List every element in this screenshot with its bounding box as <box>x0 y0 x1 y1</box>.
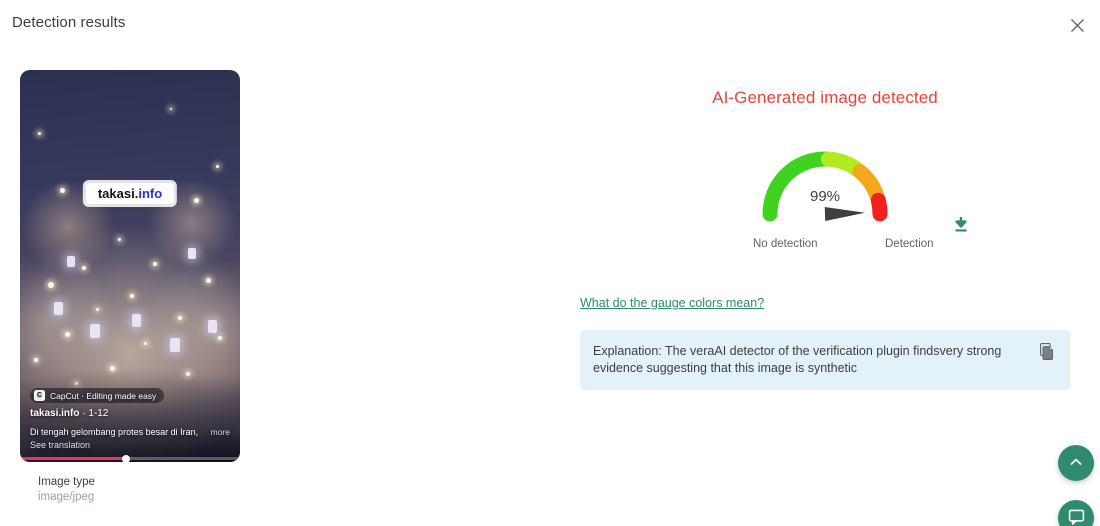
gauge-svg <box>750 126 900 236</box>
gauge-segment-orange <box>860 172 877 197</box>
image-type-value: image/jpeg <box>38 490 240 505</box>
gauge-segment-red <box>878 200 880 214</box>
caption-more-link[interactable]: more <box>211 427 230 437</box>
detection-gauge: 99% No detection Detection <box>580 126 1070 246</box>
gauge-segment-yellowgreen <box>828 159 857 169</box>
video-progress-fill <box>20 457 126 460</box>
gauge-segment-green <box>770 159 825 214</box>
gauge-value: 99% <box>810 188 840 205</box>
gauge-needle <box>825 207 865 221</box>
image-metadata: Image type image/jpeg <box>20 475 240 505</box>
gauge-max-label: Detection <box>885 238 934 250</box>
image-type-label: Image type <box>38 475 240 490</box>
close-icon <box>1070 18 1085 33</box>
post-username: takasi.info · 1-12 <box>30 408 108 419</box>
see-translation-link[interactable]: See translation <box>30 440 90 450</box>
capcut-badge-pill: C CapCut · Editing made easy <box>30 388 164 403</box>
post-caption: Di tengah gelombang protes besar di Iran… <box>30 427 200 437</box>
chevron-up-icon <box>1068 454 1084 473</box>
post-date: · 1-12 <box>79 408 108 419</box>
gauge-needle-pointer <box>825 207 865 221</box>
gauge-min-label: No detection <box>753 238 818 250</box>
copy-explanation-button[interactable] <box>1036 341 1060 365</box>
scroll-to-top-button[interactable] <box>1058 445 1094 481</box>
download-gauge-button[interactable] <box>950 215 972 237</box>
watermark-primary: takasi. <box>98 186 138 201</box>
capcut-label: CapCut · Editing made easy <box>50 391 156 401</box>
gauge-colors-help-link[interactable]: What do the gauge colors mean? <box>580 296 1070 310</box>
explanation-text: Explanation: The veraAI detector of the … <box>593 343 1024 377</box>
chat-icon <box>1068 508 1085 526</box>
detection-results-column: AI-Generated image detected 99% No detec… <box>580 88 1070 390</box>
video-progress-handle[interactable] <box>122 455 130 463</box>
panel-header: Detection results <box>0 0 1100 48</box>
download-icon <box>953 216 969 237</box>
chat-support-button[interactable] <box>1058 500 1094 526</box>
close-button[interactable] <box>1064 12 1090 38</box>
capcut-logo-icon: C <box>34 390 45 401</box>
detection-verdict: AI-Generated image detected <box>580 88 1070 108</box>
detection-results-page: Detection results <box>0 0 1100 526</box>
watermark-secondary: info <box>138 186 162 201</box>
page-title: Detection results <box>12 14 125 31</box>
video-progress-bar[interactable] <box>20 457 240 460</box>
copy-icon <box>1040 343 1056 363</box>
username-text: takasi.info <box>30 408 79 419</box>
image-preview-column: takasi.info C CapCut · Editing made easy… <box>20 70 240 505</box>
image-thumbnail[interactable]: takasi.info C CapCut · Editing made easy… <box>20 70 240 462</box>
source-watermark: takasi.info <box>86 183 174 204</box>
explanation-box: Explanation: The veraAI detector of the … <box>580 330 1070 390</box>
